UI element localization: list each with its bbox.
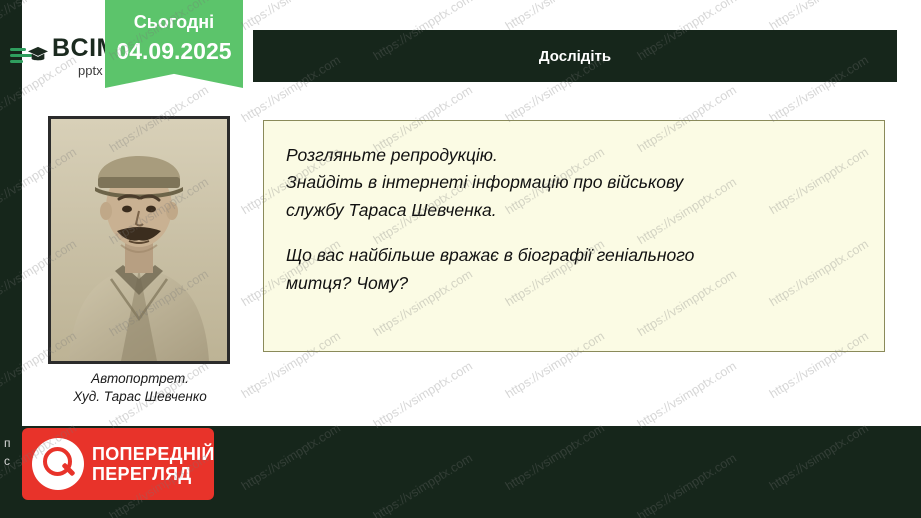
task-line-4: Що вас найбільше вражає в біографії гені… (286, 243, 864, 268)
portrait-image (48, 116, 230, 364)
preview-badge-line1: ПОПЕРЕДНІЙ (92, 444, 215, 464)
logo-bars-icon (10, 43, 44, 69)
portrait-caption-line2: Худ. Тарас Шевченко (40, 388, 240, 406)
graduation-cap-icon (27, 45, 49, 65)
portrait-caption-line1: Автопортрет. (40, 370, 240, 388)
task-line-1: Розгляньте репродукцію. (286, 143, 864, 168)
page-title: Дослідіть (539, 48, 611, 65)
bottom-bar-line1: п (4, 434, 11, 452)
slide-root: BCIM pptx Сьогодні 04.09.2025 Дослідіть (0, 0, 921, 518)
magnifier-icon (32, 438, 84, 490)
portrait-illustration (51, 119, 227, 361)
header-strip: Дослідіть (253, 30, 897, 82)
bottom-bar-text: п с (4, 434, 11, 470)
preview-badge[interactable]: ПОПЕРЕДНІЙ ПЕРЕГЛЯД (22, 428, 214, 500)
date-value: 04.09.2025 (105, 38, 243, 65)
task-box: Розгляньте репродукцію. Знайдіть в інтер… (263, 120, 885, 352)
preview-badge-line2: ПЕРЕГЛЯД (92, 464, 215, 484)
task-line-2: Знайдіть в інтернеті інформацію про війс… (286, 170, 864, 195)
task-line-5: митця? Чому? (286, 271, 864, 296)
portrait-caption: Автопортрет. Худ. Тарас Шевченко (40, 370, 240, 406)
bottom-bar-line2: с (4, 452, 11, 470)
task-line-3: службу Тараса Шевченка. (286, 198, 864, 223)
today-label: Сьогодні (105, 12, 243, 33)
